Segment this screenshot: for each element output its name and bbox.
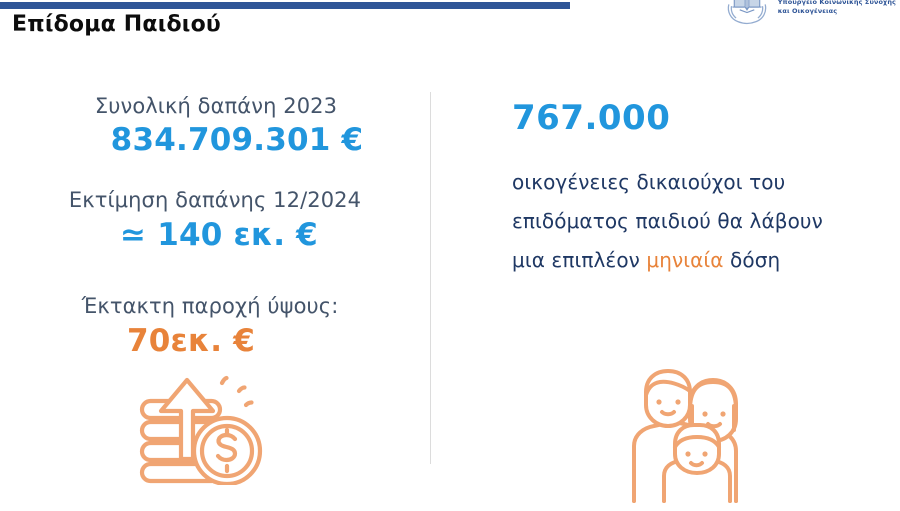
description-highlight-monthly: μηνιαία [646, 248, 723, 272]
right-column: 767.000 οικογένειες δικαιούχοι του επιδό… [512, 100, 882, 280]
stat-value: ≃ 140 εκ. € [28, 215, 410, 257]
beneficiary-description: οικογένειες δικαιούχοι του επιδόματος πα… [512, 163, 882, 280]
description-line-1: οικογένειες δικαιούχοι του [512, 163, 882, 202]
ministry-logo-text: Υπουργείο Κοινωνικής Συνοχής και Οικογέν… [778, 0, 896, 17]
description-line-3: μια επιπλέον μηνιαία δόση [512, 241, 882, 280]
stat-label: Εκτίμηση δαπάνης 12/2024 [20, 186, 410, 214]
family-icon-wrap [612, 358, 757, 507]
stat-label: Έκτακτη παροχή ύψους: [10, 292, 410, 320]
stat-label: Συνολική δαπάνη 2023 [22, 92, 410, 120]
beneficiary-count: 767.000 [512, 100, 882, 137]
stat-value: 70εκ. € [0, 321, 410, 363]
stat-value: 834.709.301 € [64, 120, 410, 162]
ministry-logo: Υπουργείο Κοινωνικής Συνοχής και Οικογέν… [721, 0, 896, 28]
stat-block-total-spending-2023: Συνολική δαπάνη 2023 834.709.301 € [22, 92, 410, 162]
header-accent-bar [0, 2, 570, 9]
page-title: Επίδομα Παιδιού [12, 12, 221, 37]
stat-block-extraordinary-benefit: Έκτακτη παροχή ύψους: 70εκ. € [10, 292, 410, 362]
column-divider [430, 92, 431, 464]
money-growth-coins-icon-wrap [0, 367, 410, 485]
family-parents-child-icon [612, 358, 757, 503]
ministry-name-line1: Υπουργείο Κοινωνικής Συνοχής [778, 0, 896, 7]
description-line-3-after: δόση [724, 248, 781, 272]
description-line-3-before: μια επιπλέον [512, 248, 646, 272]
greek-republic-book-emblem [721, 0, 773, 28]
stat-block-estimated-spending-122024: Εκτίμηση δαπάνης 12/2024 ≃ 140 εκ. € [20, 186, 410, 256]
description-line-2: επιδόματος παιδιού θα λάβουν [512, 202, 882, 241]
ministry-name-line2: και Οικογένειας [778, 7, 896, 16]
money-growth-coins-icon [126, 367, 274, 485]
left-column: Συνολική δαπάνη 2023 834.709.301 € Εκτίμ… [0, 92, 410, 485]
